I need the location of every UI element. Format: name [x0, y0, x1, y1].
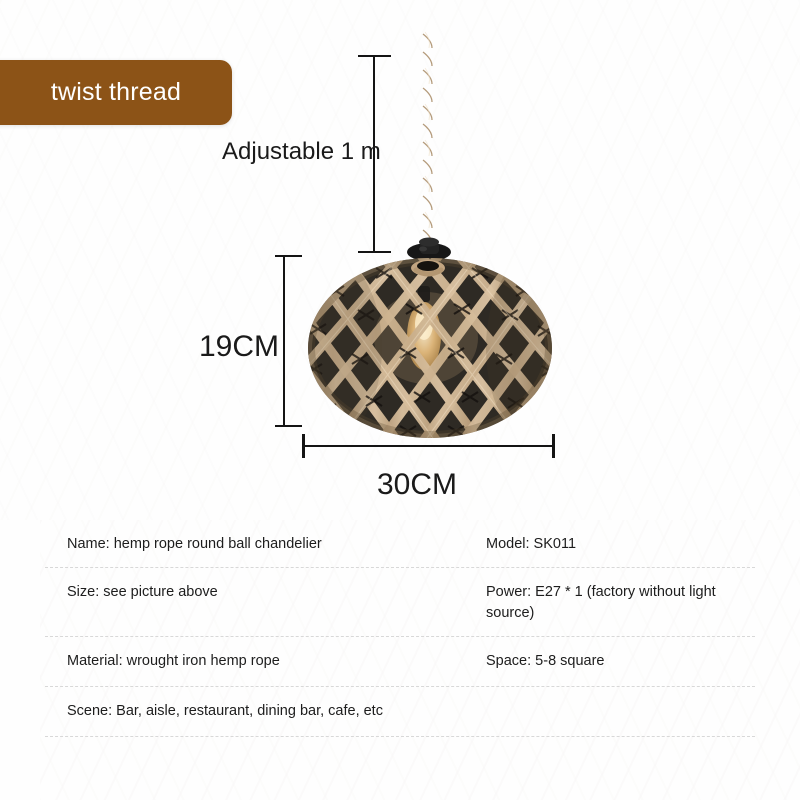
height-dim-top-cap	[275, 255, 302, 257]
chandelier-illustration	[290, 18, 570, 458]
height-dimension-label: 19CM	[199, 330, 279, 364]
rope-top-knot	[411, 260, 445, 276]
table-row: Name: hemp rope round ball chandelier Mo…	[45, 520, 755, 568]
specification-table: Name: hemp rope round ball chandelier Mo…	[45, 520, 755, 737]
cord-dim-bottom-cap	[358, 251, 391, 253]
spec-space-value: Space: 5-8 square	[470, 637, 755, 684]
width-dimension-label: 30CM	[377, 468, 457, 502]
badge-label: twist thread	[33, 78, 181, 107]
spec-power-value: Power: E27 * 1 (factory without light so…	[470, 568, 755, 636]
table-row: Size: see picture above Power: E27 * 1 (…	[45, 568, 755, 637]
product-spec-page: twist thread	[0, 0, 800, 800]
woven-rope-shade	[290, 230, 570, 458]
width-dim-right-cap	[552, 434, 555, 458]
spec-material-value: Material: wrought iron hemp rope	[45, 637, 470, 684]
width-dim-line	[302, 445, 555, 447]
table-row: Scene: Bar, aisle, restaurant, dining ba…	[45, 687, 755, 737]
cord-dimension-label: Adjustable 1 m	[222, 138, 381, 166]
spec-size-value: Size: see picture above	[45, 568, 470, 615]
height-dim-bottom-cap	[275, 425, 302, 427]
hanging-rope-cord	[423, 28, 432, 246]
table-row: Material: wrought iron hemp rope Space: …	[45, 637, 755, 687]
spec-scene-value: Scene: Bar, aisle, restaurant, dining ba…	[45, 687, 755, 734]
spec-model-value: Model: SK011	[470, 520, 755, 567]
height-dim-line	[283, 255, 285, 427]
lamp-socket	[407, 238, 451, 262]
twist-thread-badge: twist thread	[0, 60, 232, 125]
spec-name-value: Name: hemp rope round ball chandelier	[45, 520, 470, 567]
